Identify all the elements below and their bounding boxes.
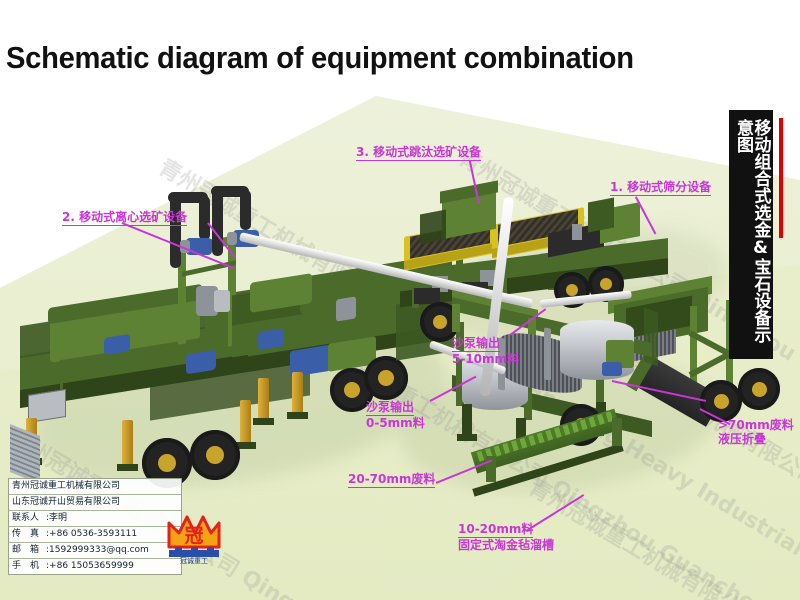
- mobile-value: +86 15053659999: [49, 561, 134, 571]
- label-text: 0-5mm料: [366, 416, 425, 430]
- jack-foot: [287, 412, 308, 419]
- contact-person-row: 联系人:李明: [9, 511, 181, 527]
- wheel-hub: [378, 370, 394, 386]
- logo-base-foot: [175, 547, 182, 552]
- jack-foot: [117, 464, 138, 471]
- fax-value: +86 0536-3593111: [49, 529, 137, 539]
- centrifuge-bowl: [214, 290, 230, 312]
- label-text: 2. 移动式离心选矿设备: [62, 210, 187, 226]
- mobile-row: 手 机:+86 15053659999: [9, 559, 181, 574]
- jack-foot: [457, 434, 477, 441]
- feed-pipe: [240, 190, 251, 230]
- diagram-canvas: 青州冠诚重工机械有限公司 Qingzhou Guancheng Heavy In…: [0, 0, 800, 600]
- label-pump-out-5-10: 沙泵输出 5-10mm料: [452, 336, 519, 366]
- pump-housing: [227, 232, 237, 245]
- drum-rib: [544, 327, 551, 380]
- hydraulic-jack: [258, 378, 269, 420]
- page-title: Schematic diagram of equipment combinati…: [6, 40, 634, 76]
- hydraulic-jack: [122, 420, 133, 466]
- mobile-key: 手 机: [12, 560, 46, 573]
- label-text: 5-10mm料: [452, 352, 519, 366]
- label-text: 液压折叠: [718, 432, 794, 446]
- feed-pipe: [199, 196, 210, 240]
- email-key: 邮 箱: [12, 544, 46, 557]
- label-pump-out-0-5: 沙泵输出 0-5mm料: [366, 400, 425, 430]
- frame-post-upper: [452, 304, 460, 332]
- contact-person-value: 李明: [49, 513, 67, 523]
- label-text: 沙泵输出: [366, 400, 414, 416]
- label-equipment-1: 1. 移动式筛分设备: [610, 180, 711, 196]
- wheel-hub: [158, 454, 176, 472]
- crown-logo-icon: 冠 冠诚重工: [163, 503, 225, 565]
- sluice-leg: [612, 418, 622, 446]
- label-waste-over-70: >70mm废料 液压折叠: [718, 418, 794, 446]
- feed-pipe: [170, 196, 181, 268]
- company-name-secondary: 山东冠诚开山贸易有限公司: [9, 495, 181, 511]
- label-equipment-3: 3. 移动式跳汰选矿设备: [356, 145, 481, 161]
- label-text: >70mm废料: [718, 418, 794, 432]
- hydraulic-jack: [240, 400, 251, 444]
- logo-base-foot: [207, 547, 214, 552]
- vertical-banner: 移动组合式选金&宝石设备示意图: [729, 110, 773, 359]
- wheel-hub: [433, 315, 447, 329]
- contact-person-key: 联系人: [12, 512, 46, 525]
- side-chute: [644, 307, 658, 366]
- jack-foot: [253, 418, 274, 425]
- crown-monogram: 冠: [184, 525, 203, 547]
- wheel-hub: [752, 382, 767, 397]
- company-name-primary: 青州冠诚重工机械有限公司: [9, 479, 181, 495]
- label-text: 20-70mm废料: [348, 472, 435, 488]
- label-equipment-2: 2. 移动式离心选矿设备: [62, 210, 187, 226]
- label-text: 固定式淘金毡溜槽: [458, 538, 554, 552]
- label-waste-20-70: 20-70mm废料: [348, 472, 435, 488]
- logo-base-foot: [191, 547, 198, 552]
- label-sluice-10-20: 10-20mm料 固定式淘金毡溜槽: [458, 522, 554, 552]
- label-text: 10-20mm料: [458, 522, 533, 538]
- crown-logo: 冠 冠诚重工: [163, 503, 225, 565]
- logo-caption: 冠诚重工: [180, 556, 208, 565]
- feed-pipe: [212, 190, 223, 256]
- label-text: 3. 移动式跳汰选矿设备: [356, 145, 481, 161]
- wheel-hub: [206, 446, 224, 464]
- jig-chute: [420, 209, 446, 244]
- contact-card: 青州冠诚重工机械有限公司 山东冠诚开山贸易有限公司 联系人:李明 传 真:+86…: [8, 478, 182, 575]
- email-row: 邮 箱:1592999333@qq.com: [9, 543, 181, 559]
- wheel-hub: [600, 278, 612, 290]
- fax-row: 传 真:+86 0536-3593111: [9, 527, 181, 543]
- gearbox-motor: [602, 362, 622, 376]
- label-text: 沙泵输出: [452, 336, 500, 352]
- wheel-hub: [566, 284, 578, 296]
- exhaust-stack: [572, 224, 582, 240]
- wheel-hub: [714, 394, 729, 409]
- hydraulic-jack: [292, 372, 303, 414]
- centrifuge-bowl: [336, 296, 356, 321]
- support-jack: [462, 404, 472, 436]
- label-text: 1. 移动式筛分设备: [610, 180, 711, 196]
- fax-key: 传 真: [12, 528, 46, 541]
- engine-cover: [588, 197, 614, 232]
- email-value: 1592999333@qq.com: [49, 545, 149, 555]
- wheel-hub: [344, 382, 360, 398]
- vertical-banner-text: 移动组合式选金&宝石设备示意图: [734, 119, 769, 351]
- banner-red-rule: [779, 118, 783, 238]
